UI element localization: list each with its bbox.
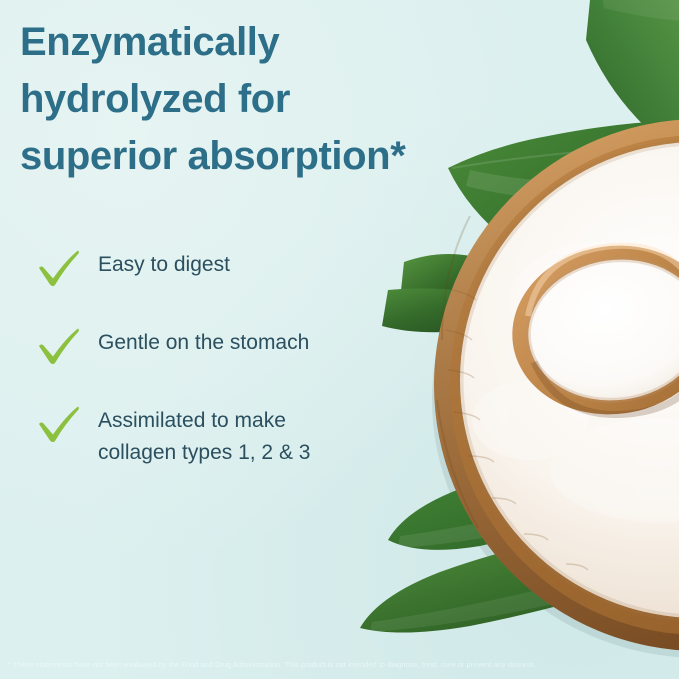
headline: Enzymatically hydrolyzed for superior ab… [20,14,470,184]
headline-line-3: superior absorption* [20,128,470,185]
list-item-label: Gentle on the stomach [82,324,309,359]
list-item: Easy to digest [36,246,376,288]
check-icon [36,248,82,288]
check-icon [36,326,82,366]
benefits-list: Easy to digest Gentle on the stomach Ass… [36,246,376,469]
list-item: Assimilated to make collagen types 1, 2 … [36,402,376,469]
check-icon [36,404,82,444]
list-item-label: Easy to digest [82,246,230,281]
list-item-label: Assimilated to make collagen types 1, 2 … [82,402,310,469]
product-marketing-image: Enzymatically hydrolyzed for superior ab… [0,0,679,679]
disclaimer-text: * These statements have not been evaluat… [8,660,676,670]
headline-line-2: hydrolyzed for [20,71,470,128]
list-item: Gentle on the stomach [36,324,376,366]
headline-line-1: Enzymatically [20,14,470,71]
